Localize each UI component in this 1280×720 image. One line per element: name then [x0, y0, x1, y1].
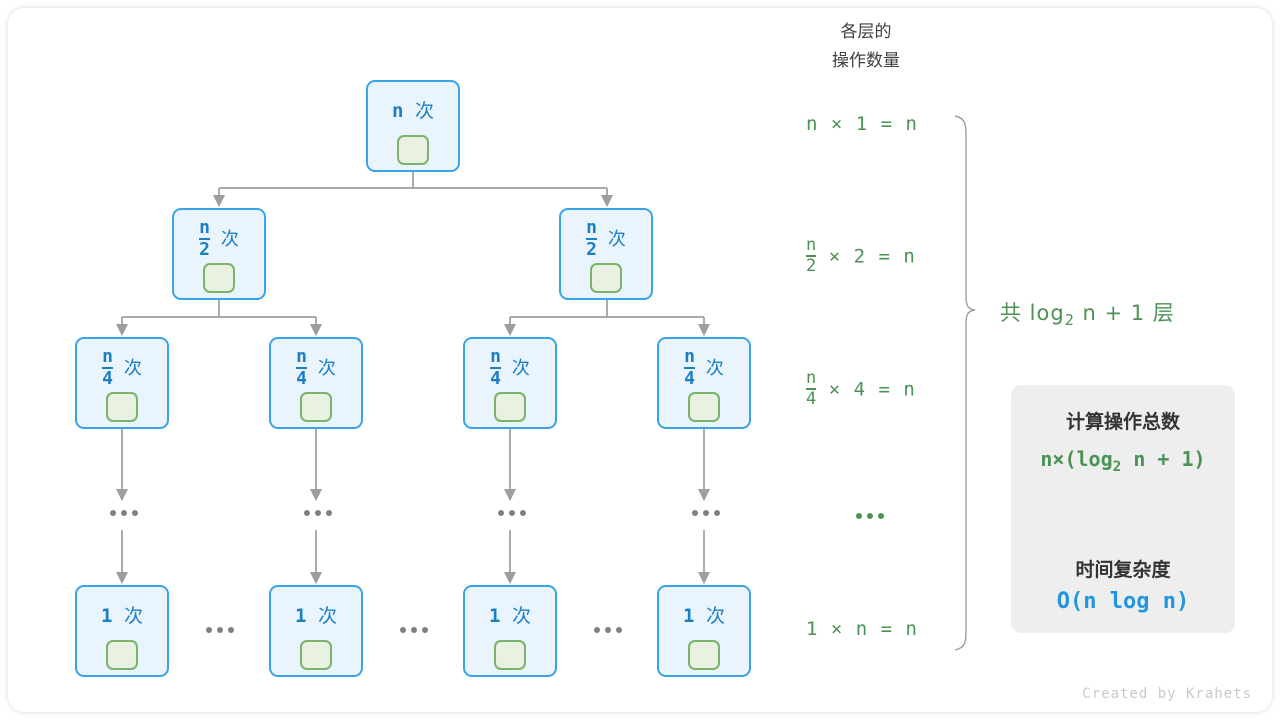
node-count-fraction: n 2 [586, 219, 597, 259]
dot [867, 513, 873, 519]
node-unit-label: 次 [221, 229, 239, 250]
equation-fraction: n 2 [806, 237, 816, 275]
equation-last-level: 1 × n = n [806, 618, 918, 640]
summary-complexity-title: 时间复杂度 [1011, 555, 1235, 582]
operation-box [203, 263, 235, 293]
dot [605, 627, 611, 633]
operation-box [688, 392, 720, 422]
tree-node-level2-left[interactable]: n 2 次 [172, 208, 266, 300]
brace-label-prefix: 共 log [1000, 301, 1065, 325]
tree-node-label: n 2 次 [174, 220, 264, 260]
fraction-numerator: n [586, 219, 597, 237]
dot [206, 627, 212, 633]
tree-node-last-1[interactable]: 1 次 [75, 585, 169, 677]
node-unit-label: 次 [706, 605, 725, 627]
fraction-numerator: n [102, 348, 113, 366]
fraction-numerator: n [199, 219, 210, 237]
dot [422, 627, 428, 633]
dot [217, 627, 223, 633]
operation-box [688, 640, 720, 670]
tree-node-label: n 次 [368, 96, 458, 123]
node-count-value: n [392, 100, 403, 122]
fraction-numerator: n [684, 348, 695, 366]
dot [228, 627, 234, 633]
tree-node-level3-1[interactable]: n 4 次 [75, 337, 169, 429]
summary-total-title: 计算操作总数 [1011, 407, 1235, 434]
ellipsis-between-nodes-3 [594, 627, 622, 633]
tree-node-label: n 4 次 [659, 349, 749, 389]
fraction-denominator: 4 [102, 370, 113, 388]
tree-node-label: 1 次 [77, 601, 167, 628]
operation-box [494, 640, 526, 670]
credit-text: Created by Krahets [1082, 686, 1252, 702]
tree-node-level1[interactable]: n 次 [366, 80, 460, 172]
fraction-numerator: n [490, 348, 501, 366]
summary-formula: n×(log2 n + 1) [1011, 447, 1235, 475]
equation-level3: n 4 × 4 = n [806, 371, 916, 409]
tree-node-level3-2[interactable]: n 4 次 [269, 337, 363, 429]
operation-box [397, 135, 429, 165]
node-count-fraction: n 2 [199, 219, 210, 259]
operation-box [300, 640, 332, 670]
tree-node-level2-right[interactable]: n 2 次 [559, 208, 653, 300]
tree-node-last-4[interactable]: 1 次 [657, 585, 751, 677]
equation-level1: n × 1 = n [806, 113, 918, 135]
brace-label: 共 log2 n + 1 层 [1000, 297, 1175, 329]
ellipsis-column-3 [498, 510, 526, 516]
dot [594, 627, 600, 633]
tree-node-level3-4[interactable]: n 4 次 [657, 337, 751, 429]
column-header-line1: 各层的 [796, 18, 936, 47]
column-header: 各层的 操作数量 [796, 18, 936, 76]
diagram-canvas: 各层的 操作数量 n 次 n 2 次 n 2 次 [0, 0, 1280, 720]
fraction-denominator: 4 [490, 370, 501, 388]
dot [509, 510, 515, 516]
node-count-fraction: n 4 [102, 348, 113, 388]
dot [304, 510, 310, 516]
dot [520, 510, 526, 516]
dot [703, 510, 709, 516]
operation-box [494, 392, 526, 422]
ellipsis-between-nodes-2 [400, 627, 428, 633]
equation-ellipsis [856, 513, 884, 519]
brace-label-suffix: n + 1 层 [1075, 301, 1175, 325]
tree-node-label: n 4 次 [271, 349, 361, 389]
ellipsis-column-4 [692, 510, 720, 516]
node-unit-label: 次 [415, 100, 434, 122]
node-count-value: 1 [683, 605, 694, 627]
fraction-denominator: 4 [296, 370, 307, 388]
fraction-denominator: 2 [806, 258, 816, 275]
dot [121, 510, 127, 516]
fraction-numerator: n [296, 348, 307, 366]
node-count-fraction: n 4 [296, 348, 307, 388]
equation-text: × 4 = n [829, 379, 916, 401]
node-unit-label: 次 [124, 358, 142, 379]
tree-node-label: n 2 次 [561, 220, 651, 260]
dot [498, 510, 504, 516]
formula-suffix: n + 1) [1121, 447, 1205, 471]
tree-node-label: n 4 次 [77, 349, 167, 389]
operation-box [106, 392, 138, 422]
operation-box [590, 263, 622, 293]
node-unit-label: 次 [318, 358, 336, 379]
tree-node-label: 1 次 [659, 601, 749, 628]
dot [856, 513, 862, 519]
node-unit-label: 次 [124, 605, 143, 627]
brace-label-subscript: 2 [1065, 311, 1075, 329]
dot [110, 510, 116, 516]
column-header-line2: 操作数量 [796, 47, 936, 76]
node-unit-label: 次 [608, 229, 626, 250]
tree-node-label: 1 次 [271, 601, 361, 628]
dot [315, 510, 321, 516]
node-count-value: 1 [489, 605, 500, 627]
fraction-denominator: 2 [199, 241, 210, 259]
ellipsis-column-2 [304, 510, 332, 516]
node-count-fraction: n 4 [684, 348, 695, 388]
equation-text: 1 × n = n [806, 618, 918, 640]
tree-node-last-3[interactable]: 1 次 [463, 585, 557, 677]
equation-text: n × 1 = n [806, 113, 918, 135]
dot [400, 627, 406, 633]
node-unit-label: 次 [512, 605, 531, 627]
tree-node-label: 1 次 [465, 601, 555, 628]
operation-box [106, 640, 138, 670]
node-count-value: 1 [101, 605, 112, 627]
fraction-numerator: n [806, 370, 816, 387]
summary-result: O(n log n) [1011, 589, 1235, 614]
node-count-value: 1 [295, 605, 306, 627]
tree-node-level3-3[interactable]: n 4 次 [463, 337, 557, 429]
dot [616, 627, 622, 633]
fraction-numerator: n [806, 237, 816, 254]
tree-node-last-2[interactable]: 1 次 [269, 585, 363, 677]
summary-panel: 计算操作总数 n×(log2 n + 1) 时间复杂度 O(n log n) [1011, 385, 1235, 633]
formula-prefix: n×(log [1040, 447, 1112, 471]
dot [692, 510, 698, 516]
level-count-brace [955, 116, 975, 650]
formula-subscript: 2 [1113, 459, 1122, 475]
node-unit-label: 次 [318, 605, 337, 627]
self-loop-arrows [93, 117, 741, 662]
ellipsis-column-1 [110, 510, 138, 516]
dot [878, 513, 884, 519]
tree-node-label: n 4 次 [465, 349, 555, 389]
node-unit-label: 次 [512, 358, 530, 379]
dot [132, 510, 138, 516]
dot [411, 627, 417, 633]
fraction-denominator: 4 [806, 391, 816, 408]
fraction-denominator: 4 [684, 370, 695, 388]
fraction-denominator: 2 [586, 241, 597, 259]
equation-text: × 2 = n [829, 246, 916, 268]
operation-box [300, 392, 332, 422]
equation-fraction: n 4 [806, 370, 816, 408]
dot [326, 510, 332, 516]
ellipsis-between-nodes-1 [206, 627, 234, 633]
node-unit-label: 次 [706, 358, 724, 379]
equation-level2: n 2 × 2 = n [806, 238, 916, 276]
node-count-fraction: n 4 [490, 348, 501, 388]
dot [714, 510, 720, 516]
